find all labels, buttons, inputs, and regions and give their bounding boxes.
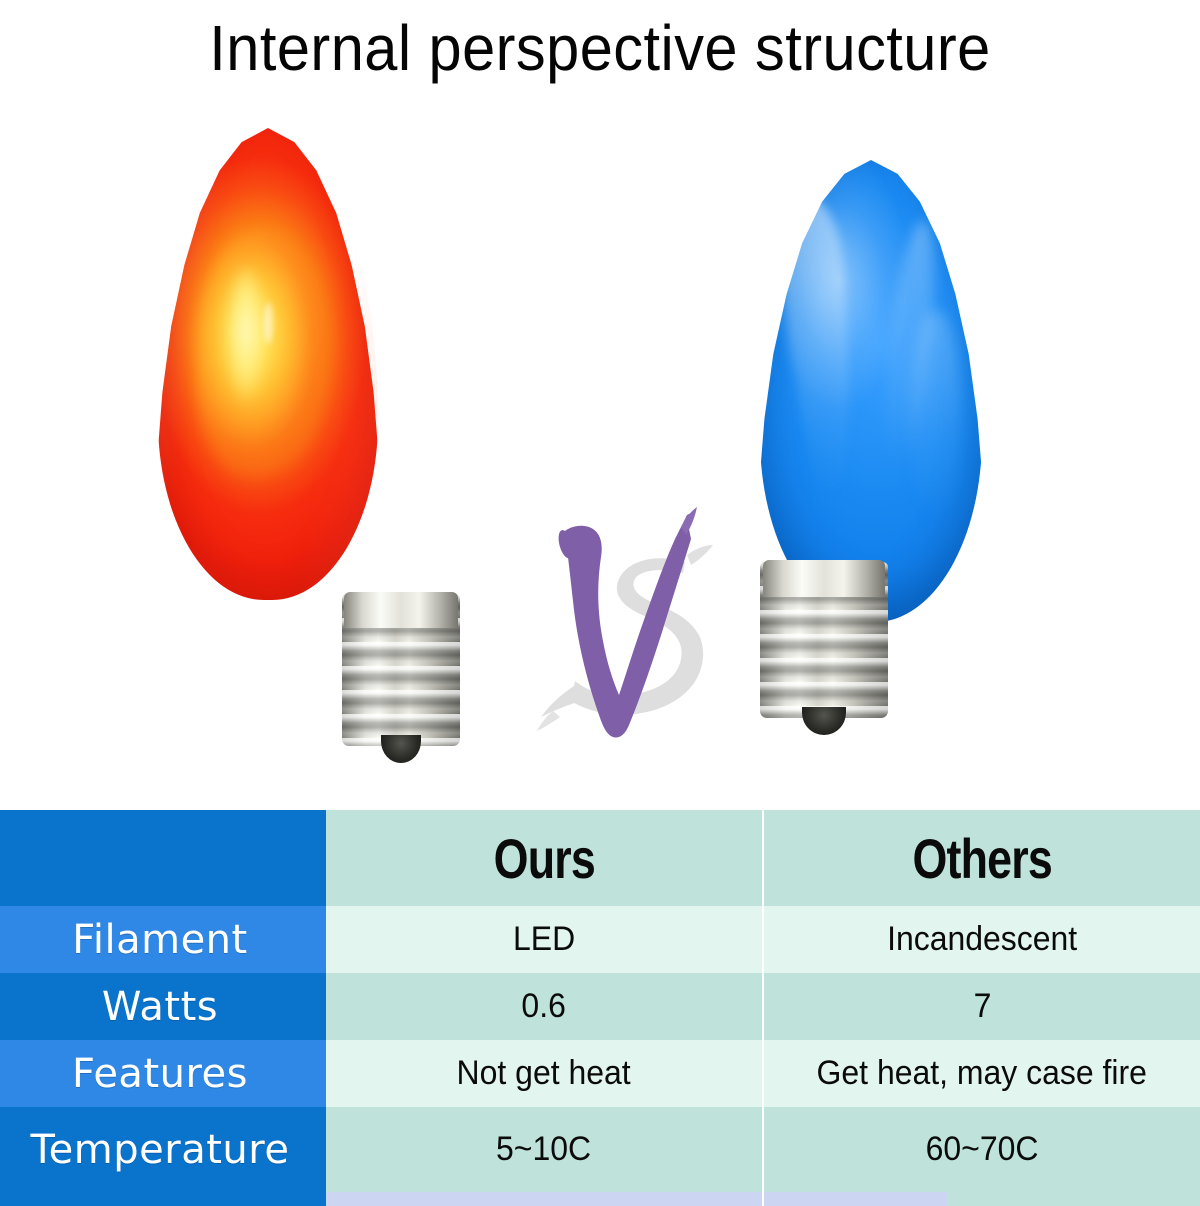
cut-row-others-cell: [764, 1192, 1200, 1206]
column-header-others: Others: [764, 810, 1200, 906]
table-corner-cell: [0, 810, 326, 906]
table-row: Features Not get heat Get heat, may case…: [0, 1040, 1200, 1107]
table-row: Watts 0.6 7: [0, 973, 1200, 1040]
cell-others-watts: 7: [764, 973, 1200, 1040]
product-comparison-infographic: Internal perspective structure: [0, 0, 1200, 1200]
cell-ours-filament: LED: [326, 906, 764, 973]
cell-others-temperature: 60~70C: [764, 1107, 1200, 1192]
comparison-table: Ours Others Filament LED Incandescent Wa…: [0, 810, 1200, 1200]
row-label-watts: Watts: [0, 973, 326, 1040]
cell-others-temperature-text: 60~70C: [926, 1130, 1039, 1169]
hero-product-comparison: [0, 110, 1200, 810]
red-bulb-screw-base: [342, 594, 460, 746]
cell-ours-temperature-text: 5~10C: [496, 1130, 591, 1169]
cell-others-filament-text: Incandescent: [887, 920, 1077, 959]
table-top-gap: [0, 800, 1200, 810]
column-header-others-label: Others: [912, 826, 1052, 891]
table-row: Temperature 5~10C 60~70C: [0, 1107, 1200, 1192]
cell-others-filament: Incandescent: [764, 906, 1200, 973]
row-label-temperature: Temperature: [0, 1107, 326, 1192]
cell-ours-filament-text: LED: [513, 920, 575, 959]
blue-bulb-screw-base: [760, 562, 888, 718]
cell-others-features: Get heat, may case fire: [764, 1040, 1200, 1107]
ours-led-bulb-image: [152, 128, 384, 788]
cell-others-watts-text: 7: [973, 987, 991, 1026]
red-bulb-specular-highlight: [264, 302, 273, 344]
cell-ours-watts-text: 0.6: [522, 987, 566, 1026]
table-row-cut-off: [0, 1192, 1200, 1206]
cell-ours-features: Not get heat: [326, 1040, 764, 1107]
table-header-row: Ours Others: [0, 810, 1200, 906]
base-collar: [344, 592, 457, 628]
cell-ours-watts: 0.6: [326, 973, 764, 1040]
blue-bulb-highlight-right: [910, 310, 962, 520]
row-label-features: Features: [0, 1040, 326, 1107]
column-header-ours-label: Ours: [493, 826, 594, 891]
row-label-filament: Filament: [0, 906, 326, 973]
versus-mark: [535, 505, 715, 750]
led-filament-hotspot-icon: [226, 268, 266, 418]
cell-ours-temperature: 5~10C: [326, 1107, 764, 1192]
cell-others-features-text: Get heat, may case fire: [817, 1054, 1147, 1093]
page-title: Internal perspective structure: [42, 6, 1158, 90]
cut-row-ours-cell: [326, 1192, 764, 1206]
column-header-ours: Ours: [326, 810, 764, 906]
cell-ours-features-text: Not get heat: [457, 1054, 631, 1093]
base-contact-tip: [381, 735, 421, 762]
table-row: Filament LED Incandescent: [0, 906, 1200, 973]
cut-row-label-cell: [0, 1192, 326, 1206]
base-emboss-text: [768, 581, 881, 612]
